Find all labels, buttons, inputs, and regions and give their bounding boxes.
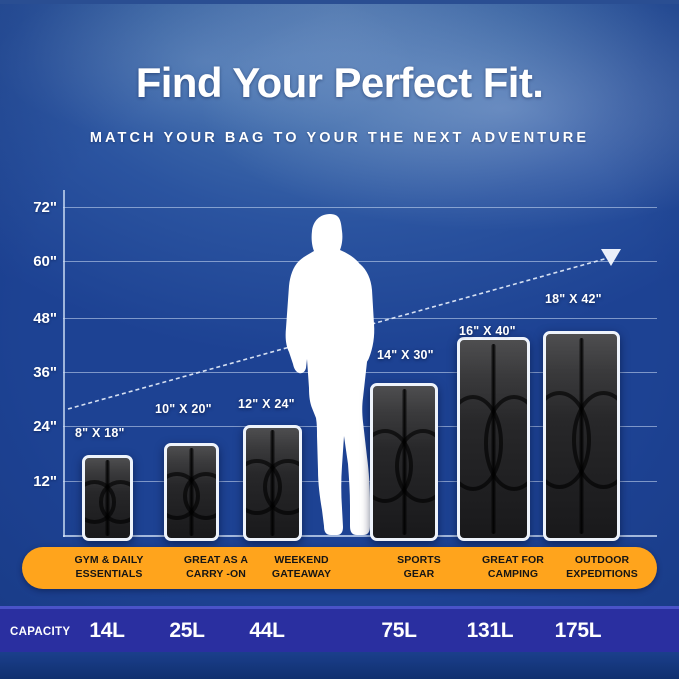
bag-1-body xyxy=(85,458,130,538)
usage-item-1: GYM & DAILY ESSENTIALS xyxy=(49,554,169,581)
bag-center-stripe xyxy=(402,389,407,535)
infographic-root: Find Your Perfect Fit. MATCH YOUR BAG TO… xyxy=(0,0,679,679)
capacity-label: CAPACITY xyxy=(10,626,70,638)
y-tick-48: 48" xyxy=(11,310,57,327)
usage-item-6-line2: EXPEDITIONS xyxy=(547,568,657,582)
page-title: Find Your Perfect Fit. xyxy=(0,62,679,104)
usage-item-4-line2: GEAR xyxy=(370,568,468,582)
y-tick-72: 72" xyxy=(11,199,57,216)
capacity-value-1: 14L xyxy=(72,619,142,643)
footer-strip xyxy=(0,652,679,679)
capacity-value-3: 44L xyxy=(232,619,302,643)
y-tick-60: 60" xyxy=(11,253,57,270)
bag-3[interactable] xyxy=(243,425,302,541)
capacity-bar: CAPACITY 14L 25L 44L 75L 131L 175L xyxy=(0,606,679,658)
bag-6-dimension-label: 18" X 42" xyxy=(545,292,602,306)
y-tick-36: 36" xyxy=(11,364,57,381)
capacity-value-6: 175L xyxy=(538,619,618,643)
capacity-value-2: 25L xyxy=(152,619,222,643)
gridline-72 xyxy=(63,207,657,208)
y-axis-line xyxy=(63,190,65,537)
bag-6-body xyxy=(546,334,617,538)
top-edge-strip xyxy=(0,0,679,4)
bag-1[interactable] xyxy=(82,455,133,541)
usage-item-4-line1: SPORTS xyxy=(370,554,468,568)
bag-center-stripe xyxy=(491,344,496,534)
y-tick-24: 24" xyxy=(11,418,57,435)
bag-6[interactable] xyxy=(543,331,620,541)
bag-center-stripe xyxy=(579,338,584,534)
bag-2-dimension-label: 10" X 20" xyxy=(155,402,212,416)
bag-5[interactable] xyxy=(457,337,530,541)
y-tick-12: 12" xyxy=(11,473,57,490)
capacity-value-4: 75L xyxy=(364,619,434,643)
bag-2[interactable] xyxy=(164,443,219,541)
bag-4[interactable] xyxy=(370,383,438,541)
usage-item-3-line1: WEEKEND xyxy=(244,554,359,568)
usage-item-6-line1: OUTDOOR xyxy=(547,554,657,568)
usage-bar: GYM & DAILY ESSENTIALS GREAT AS A CARRY … xyxy=(22,547,657,589)
bag-2-body xyxy=(167,446,216,538)
bag-5-body xyxy=(460,340,527,538)
bag-5-dimension-label: 16" X 40" xyxy=(459,324,516,338)
bag-center-stripe xyxy=(270,430,275,536)
bag-center-stripe xyxy=(189,448,194,536)
usage-item-3: WEEKEND GATEAWAY xyxy=(244,554,359,581)
usage-item-1-line2: ESSENTIALS xyxy=(49,568,169,582)
usage-item-1-line1: GYM & DAILY xyxy=(49,554,169,568)
usage-item-6: OUTDOOR EXPEDITIONS xyxy=(547,554,657,581)
bag-center-stripe xyxy=(105,460,110,537)
page-subtitle: MATCH YOUR BAG TO YOUR THE NEXT ADVENTUR… xyxy=(0,130,679,146)
capacity-value-5: 131L xyxy=(450,619,530,643)
bag-4-body xyxy=(373,386,435,538)
bag-3-dimension-label: 12" X 24" xyxy=(238,397,295,411)
usage-item-3-line2: GATEAWAY xyxy=(244,568,359,582)
bag-4-dimension-label: 14" X 30" xyxy=(377,348,434,362)
bag-1-dimension-label: 8" X 18" xyxy=(75,426,125,440)
bag-3-body xyxy=(246,428,299,538)
usage-item-4: SPORTS GEAR xyxy=(370,554,468,581)
